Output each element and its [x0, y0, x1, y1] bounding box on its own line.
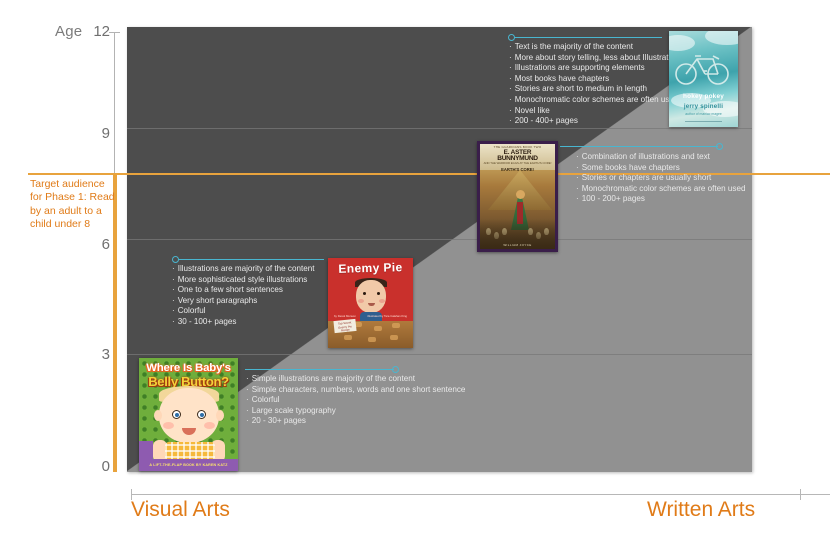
cloud-shape [705, 31, 738, 45]
bicycle-icon [673, 47, 733, 87]
x-axis-right-cap [800, 489, 801, 500]
bullet-item: Text is the majority of the content [509, 42, 679, 53]
bullet-item: Colorful [246, 395, 465, 406]
bullet-item: Simple illustrations are majority of the… [246, 374, 465, 385]
book-cover-enemy-pie[interactable]: Enemy Pie by Derek Munson illustrated by… [328, 258, 413, 348]
bullet-item: Monochromatic color schemes are often us… [509, 95, 679, 106]
boy-cheek [379, 299, 385, 303]
gridline-age-3 [127, 354, 752, 355]
bullet-item: Colorful [172, 306, 314, 317]
book-subtitle-band: A LIFT-THE-FLAP BOOK BY KAREN KATZ [139, 459, 238, 471]
book-subtitle: author of maniac magee [669, 112, 738, 116]
book-byline: by Derek Munson [334, 314, 356, 318]
callout-bullet-list: Simple illustrations are majority of the… [246, 374, 465, 427]
boy-cheek [358, 299, 364, 303]
x-axis-label-written-arts: Written Arts [647, 498, 755, 522]
bullet-item: Large scale typography [246, 406, 465, 417]
callout-bullet-list: Illustrations are majority of the conten… [172, 264, 314, 328]
divider [685, 121, 722, 122]
baby-pupil [200, 413, 204, 417]
bullet-item: Illustrations are supporting elements [509, 63, 679, 74]
bullet-item: Stories are short to medium in length [509, 84, 679, 95]
bullet-item: Some books have chapters [576, 163, 745, 174]
bullet-item: Very short paragraphs [172, 296, 314, 307]
bullet-item: 30 - 100+ pages [172, 317, 314, 328]
bullet-item: More about story telling, less about Ill… [509, 53, 679, 64]
recipe-card: Top Secret Enemy Pie Recipe [333, 319, 356, 333]
baby-ear [216, 410, 224, 421]
bullet-item: Illustrations are majority of the conten… [172, 264, 314, 275]
target-audience-note: Target audience for Phase 1: Read by an … [30, 178, 118, 231]
book-author: jerry spinelli [669, 103, 738, 110]
infographic-canvas: Age 12 9 6 3 0 Target audience for Phase… [0, 0, 830, 549]
gridline-age-9 [127, 128, 752, 129]
x-axis-label-visual-arts: Visual Arts [131, 498, 230, 522]
recipe-card-text: Top Secret Enemy Pie Recipe [333, 319, 356, 334]
bullet-item: 20 - 30+ pages [246, 416, 465, 427]
bullet-item: Stories or chapters are usually short [576, 173, 745, 184]
book-author: WILLIAM JOYCE [480, 243, 555, 247]
pie-chip [390, 335, 398, 340]
book-title-line-1: Where Is Baby's [139, 362, 238, 374]
boy-eye [377, 292, 380, 295]
book-cover-hokey-pokey[interactable]: hokey pokey jerry spinelli author of man… [669, 31, 738, 127]
bunnymund-figure-head [516, 190, 525, 199]
bullet-item: Monochromatic color schemes are often us… [576, 184, 745, 195]
y-tick-9: 9 [82, 125, 110, 142]
boy-head [356, 280, 386, 313]
boy-eye [363, 292, 366, 295]
x-axis-line [131, 494, 830, 495]
gridline-age-6 [127, 239, 752, 240]
y-axis-top-cap [109, 32, 120, 33]
y-tick-3: 3 [82, 346, 110, 363]
baby-ear [154, 410, 162, 421]
book-subtitle-bold: EARTH'S CORE! [480, 167, 555, 172]
callout-connector [514, 37, 662, 38]
callout-bullet-list: Text is the majority of the content More… [509, 42, 679, 127]
book-title: hokey pokey [669, 93, 738, 100]
baby-blush [204, 422, 215, 429]
baby-pupil [175, 413, 179, 417]
y-tick-0: 0 [82, 458, 110, 475]
pie-chip [344, 335, 352, 340]
bullet-item: More sophisticated style illustrations [172, 275, 314, 286]
bullet-item: Combination of illustrations and text [576, 152, 745, 163]
bullet-item: Most books have chapters [509, 74, 679, 85]
bullet-item: One to a few short sentences [172, 285, 314, 296]
pie-chip [374, 326, 382, 331]
bullet-item: Novel like [509, 106, 679, 117]
baby-blush [163, 422, 174, 429]
bullet-item: 100 - 200+ pages [576, 194, 745, 205]
book-cover-where-is-babys-belly-button[interactable]: Where Is Baby's Belly Button? A LIFT-THE… [139, 358, 238, 471]
y-tick-6: 6 [82, 236, 110, 253]
bullet-item: Simple characters, numbers, words and on… [246, 385, 465, 396]
pie-chip [392, 323, 400, 328]
book-subtitle: AND THE WARRIOR EGGS AT THE EARTH'S CORE… [480, 162, 555, 165]
callout-connector [178, 259, 324, 260]
bullet-item: 200 - 400+ pages [509, 116, 679, 127]
book-subtitle: A LIFT-THE-FLAP BOOK BY KAREN KATZ [139, 459, 238, 471]
book-cover-e-aster-bunnymund[interactable]: THE GUARDIANS BOOK TWO E. ASTER BUNNYMUN… [477, 141, 558, 252]
callout-bullet-list: Combination of illustrations and text So… [576, 152, 745, 205]
pie-chip [368, 337, 376, 342]
purple-corner-block [139, 441, 153, 459]
book-illustrator-byline: illustrated by Tara Calahan King [368, 314, 407, 318]
callout-connector [245, 369, 394, 370]
y-axis-title: Age [55, 23, 82, 40]
callout-connector [560, 146, 718, 147]
book-title: Enemy Pie [328, 260, 413, 276]
y-tick-12: 12 [82, 23, 110, 40]
